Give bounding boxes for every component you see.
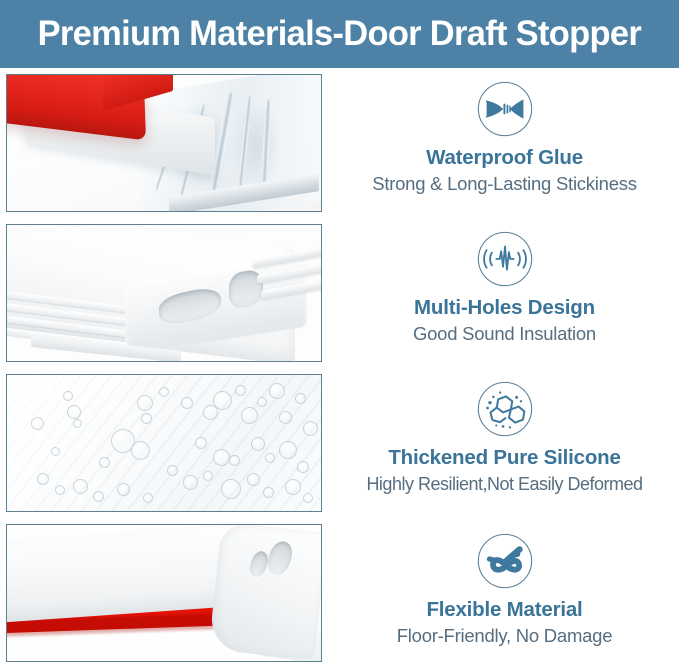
bubble bbox=[73, 419, 82, 428]
bubble bbox=[203, 471, 213, 481]
product-photo-flexible-material bbox=[6, 524, 322, 662]
feature-subtitle: Floor-Friendly, No Damage bbox=[397, 624, 612, 648]
bubble bbox=[141, 413, 152, 424]
bubble bbox=[257, 397, 267, 407]
bubble bbox=[213, 391, 232, 410]
seal-end-profile bbox=[209, 525, 321, 660]
bubble bbox=[63, 391, 73, 401]
bubble bbox=[137, 395, 153, 411]
bubble bbox=[99, 457, 110, 468]
bubble bbox=[303, 493, 313, 503]
bubble bbox=[297, 461, 309, 473]
feature-subtitle: Strong & Long-Lasting Stickiness bbox=[372, 172, 637, 196]
bubble bbox=[73, 479, 88, 494]
product-photo-column bbox=[0, 70, 330, 671]
main-content: Waterproof Glue Strong & Long-Lasting St… bbox=[0, 70, 679, 671]
bubble bbox=[55, 485, 65, 495]
feature-title: Waterproof Glue bbox=[426, 145, 583, 170]
page-title: Premium Materials-Door Draft Stopper bbox=[38, 15, 642, 53]
bubble bbox=[117, 483, 130, 496]
bubble bbox=[279, 441, 297, 459]
rope-knot-icon bbox=[474, 530, 536, 592]
photo-4-canvas bbox=[7, 525, 321, 661]
glue-stretch-icon bbox=[474, 78, 536, 140]
bubble bbox=[279, 411, 292, 424]
bubble bbox=[235, 385, 246, 396]
feature-subtitle: Good Sound Insulation bbox=[413, 322, 596, 346]
feature-item-thickened-pure-silicone: Thickened Pure Silicone Highly Resilient… bbox=[330, 370, 679, 520]
bubble bbox=[183, 475, 198, 490]
product-photo-silicone-texture bbox=[6, 374, 322, 512]
bubble bbox=[265, 453, 275, 463]
photo-2-canvas bbox=[7, 225, 321, 361]
bubble bbox=[229, 455, 240, 466]
bubble bbox=[31, 417, 44, 430]
bubble bbox=[131, 441, 150, 460]
feature-list: Waterproof Glue Strong & Long-Lasting St… bbox=[330, 70, 679, 671]
feature-title: Thickened Pure Silicone bbox=[388, 445, 620, 470]
bubble bbox=[263, 487, 274, 498]
feature-item-waterproof-glue: Waterproof Glue Strong & Long-Lasting St… bbox=[330, 70, 679, 220]
bubble bbox=[213, 449, 230, 466]
bubble bbox=[143, 493, 153, 503]
product-photo-waterproof-glue bbox=[6, 74, 322, 212]
bubble bbox=[51, 447, 60, 456]
header-banner: Premium Materials-Door Draft Stopper bbox=[0, 0, 679, 68]
bubble bbox=[181, 397, 193, 409]
bubble bbox=[221, 479, 241, 499]
molecule-icon bbox=[474, 378, 536, 440]
feature-title: Multi-Holes Design bbox=[414, 295, 595, 320]
bubble bbox=[195, 437, 207, 449]
feature-title: Flexible Material bbox=[426, 597, 582, 622]
feature-subtitle: Highly Resilient,Not Easily Deformed bbox=[366, 472, 642, 496]
bubble bbox=[159, 387, 169, 397]
bubble bbox=[37, 473, 49, 485]
bubble bbox=[241, 407, 258, 424]
bubble bbox=[295, 393, 306, 404]
feature-item-multi-holes-design: Multi-Holes Design Good Sound Insulation bbox=[330, 220, 679, 370]
bubble bbox=[269, 383, 285, 399]
product-photo-multi-holes bbox=[6, 224, 322, 362]
bubble bbox=[247, 473, 260, 486]
bubble bbox=[303, 421, 318, 436]
bubble bbox=[93, 491, 104, 502]
photo-3-canvas bbox=[7, 375, 321, 511]
bubble bbox=[285, 479, 301, 495]
infographic-page: Premium Materials-Door Draft Stopper bbox=[0, 0, 679, 671]
sound-wave-icon bbox=[474, 228, 536, 290]
bubble bbox=[167, 465, 178, 476]
bubble bbox=[67, 405, 81, 419]
feature-item-flexible-material: Flexible Material Floor-Friendly, No Dam… bbox=[330, 522, 679, 672]
photo-1-canvas bbox=[7, 75, 321, 211]
bubble bbox=[251, 437, 265, 451]
